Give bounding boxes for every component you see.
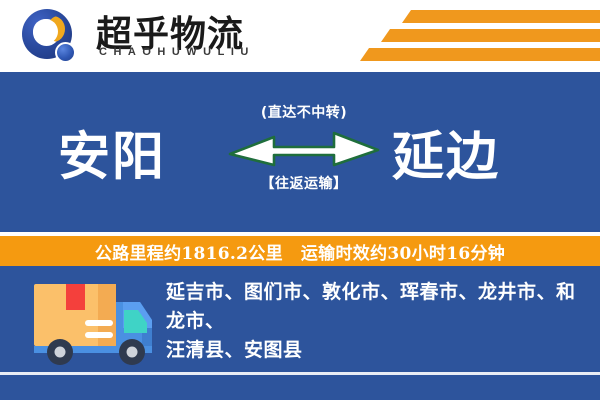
route-info-bar: 公路里程约1816.2公里 运输时效约30小时16分钟	[0, 236, 600, 266]
banner-header: 超乎物流 CHAOHUWULIU	[0, 0, 600, 72]
distance-text: 公路里程约1816.2公里	[95, 239, 283, 264]
coverage-panel: 延吉市、图们市、敦化市、珲春市、龙井市、和龙市、 汪清县、安图县	[0, 266, 600, 400]
coverage-cities-line-2: 汪清县、安图县	[166, 336, 584, 365]
coverage-cities-line-1: 延吉市、图们市、敦化市、珲春市、龙井市、和龙市、	[166, 278, 584, 336]
company-logo-icon	[22, 9, 78, 65]
route-center-group: (直达不中转) 【往返运输】	[228, 102, 380, 193]
logo-small-dot-icon	[55, 42, 76, 63]
origin-city-name: 安阳	[58, 115, 166, 190]
duration-text: 运输时效约30小时16分钟	[301, 239, 505, 264]
brand-name-pinyin: CHAOHUWULIU	[99, 46, 255, 58]
orange-diagonal-stripes-icon	[350, 8, 600, 66]
coverage-cities-list: 延吉市、图们市、敦化市、珲春市、龙井市、和龙市、 汪清县、安图县	[166, 278, 584, 365]
logo-crescent-mask-shape	[33, 19, 58, 44]
route-panel: 安阳 (直达不中转) 【往返运输】 延边	[0, 72, 600, 232]
stripe-bottom	[360, 48, 600, 61]
delivery-truck-icon	[28, 276, 158, 368]
stripe-middle	[381, 29, 600, 42]
stripe-top	[402, 10, 600, 23]
roundtrip-note: 【往返运输】	[228, 173, 380, 193]
logistics-route-banner: 超乎物流 CHAOHUWULIU 安阳 (直达不中转) 【往返运输】 延边 公路…	[0, 0, 600, 400]
direct-route-note: (直达不中转)	[228, 102, 380, 122]
double-headed-arrow-icon	[228, 127, 380, 169]
bottom-divider	[0, 372, 600, 375]
destination-city-name: 延边	[392, 115, 500, 190]
